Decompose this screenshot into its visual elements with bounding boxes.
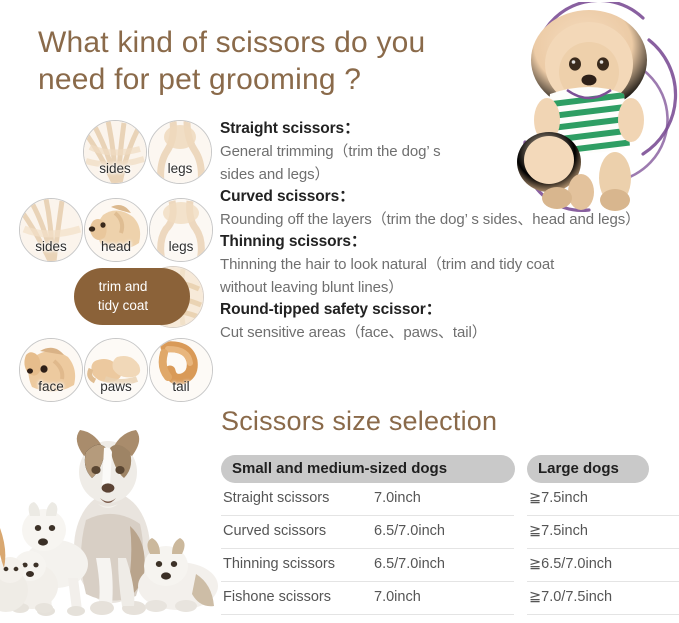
cell-type: Curved scissors [223,523,326,539]
scissor-heading-round-tipped: Round-tipped safety scissor： [220,299,679,321]
circle-tail: tail [149,338,213,402]
row-divider [527,614,679,615]
scissor-heading-straight: Straight scissors： [220,118,679,140]
table-row: Thinning scissors 6.5/7.0inch ≧6.5/7.0in… [221,549,679,582]
page-title-line2: need for pet grooming ? [38,61,538,98]
circle-sides-top: sides [83,120,147,184]
dogs-illustration [0,408,218,618]
pill-trim-and-tidy-coat: trim and tidy coat [74,268,190,325]
scissor-body-round-tipped-1: Cut sensitive areas（face、paws、tail） [220,321,679,344]
circle-label: legs [150,239,212,254]
circle-label: tail [150,379,212,394]
cell-type: Fishone scissors [223,589,331,605]
cell-large: ≧7.5inch [529,523,588,539]
page-title: What kind of scissors do you need for pe… [38,24,538,98]
circle-paws: paws [84,338,148,402]
cell-type: Thinning scissors [223,556,335,572]
page-title-line1: What kind of scissors do you [38,24,538,61]
scissor-body-straight-2: sides and legs） [220,163,679,186]
scissors-size-table: Small and medium-sized dogs Large dogs S… [221,455,679,615]
cell-large: ≧7.0/7.5inch [529,589,612,605]
scissor-body-curved-1: Rounding off the layers（trim the dog’ s … [220,208,679,231]
size-section-title: Scissors size selection [221,406,497,437]
scissor-body-thinning-2: without leaving blunt lines） [220,276,679,299]
scissor-heading-thinning: Thinning scissors： [220,231,679,253]
dogs-group-photo [0,408,218,618]
cell-small-medium: 7.0inch [374,589,421,605]
scissor-descriptions: Straight scissors： General trimming（trim… [220,118,679,344]
cell-type: Straight scissors [223,490,329,506]
row-divider [221,614,514,615]
table-header-small-medium: Small and medium-sized dogs [221,455,515,483]
circle-legs-mid: legs [149,198,213,262]
table-row: Fishone scissors 7.0inch ≧7.0/7.5inch [221,582,679,615]
pill-label-line1: trim and [84,277,162,296]
table-header-large: Large dogs [527,455,649,483]
cell-large: ≧6.5/7.0inch [529,556,612,572]
cell-large: ≧7.5inch [529,490,588,506]
circle-legs-top: legs [148,120,212,184]
infographic-page: What kind of scissors do you need for pe… [0,0,679,618]
circle-label: sides [20,239,82,254]
circle-label: paws [85,379,147,394]
pill-label-line2: tidy coat [84,296,162,315]
table-header-row: Small and medium-sized dogs Large dogs [221,455,679,483]
cell-small-medium: 6.5/7.0inch [374,556,445,572]
circle-label: sides [84,161,146,176]
circle-face: face [19,338,83,402]
table-row: Straight scissors 7.0inch ≧7.5inch [221,483,679,516]
circle-label: head [85,239,147,254]
circle-head-mid: head [84,198,148,262]
scissor-body-straight-1: General trimming（trim the dog’ s [220,140,679,163]
circle-label: face [20,379,82,394]
circle-label: legs [149,161,211,176]
scissor-body-thinning-1: Thinning the hair to look natural（trim a… [220,253,679,276]
table-row: Curved scissors 6.5/7.0inch ≧7.5inch [221,516,679,549]
cell-small-medium: 6.5/7.0inch [374,523,445,539]
scissor-heading-curved: Curved scissors： [220,186,679,208]
circle-sides-mid: sides [19,198,83,262]
cell-small-medium: 7.0inch [374,490,421,506]
